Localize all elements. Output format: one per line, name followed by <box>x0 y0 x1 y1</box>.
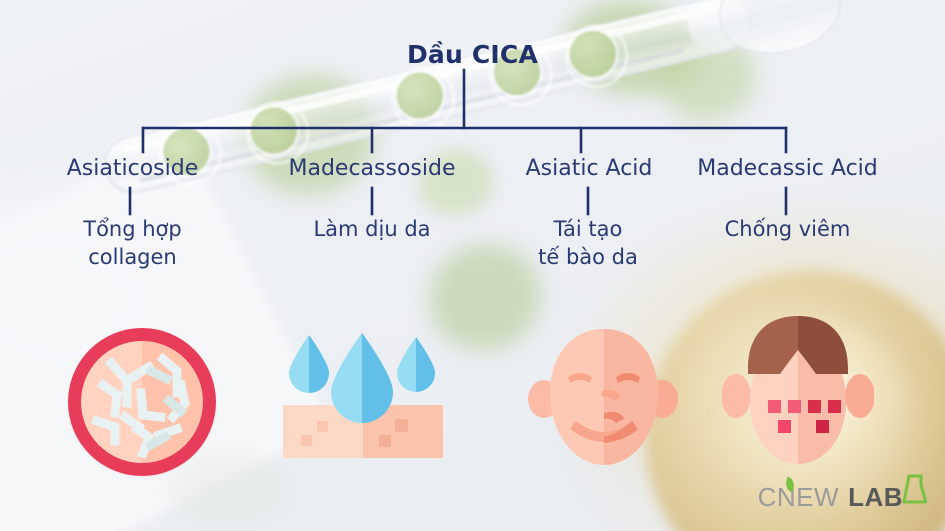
branch-desc-asiaticoside: Tổng hợp collagen <box>35 216 230 271</box>
face-with-wrinkles <box>528 325 680 475</box>
infographic-canvas: Dầu CICA Asiaticoside Madecassoside Asia… <box>0 0 945 531</box>
page-title: Dầu CICA <box>0 40 945 69</box>
branch-label-asiaticoside: Asiaticoside <box>35 156 230 181</box>
face-with-acne-spots <box>722 310 874 476</box>
logo-text-lab: LAB <box>848 482 903 513</box>
desc-line: tế bào da <box>498 244 678 272</box>
branch-label-asiatic-acid: Asiatic Acid <box>499 156 679 181</box>
branch-label-madecassic-acid: Madecassic Acid <box>680 156 895 181</box>
desc-line: Làm dịu da <box>262 216 482 244</box>
desc-line: Tổng hợp <box>35 216 230 244</box>
acne-face-icon <box>722 310 874 476</box>
branch-label-madecassoside: Madecassoside <box>262 156 482 181</box>
brand-logo: C NEW LAB <box>758 474 927 513</box>
smiling-face-icon <box>528 325 680 475</box>
branch-desc-madecassoside: Làm dịu da <box>262 216 482 244</box>
water-drops-and-skin-layer <box>283 333 443 458</box>
branch-desc-madecassic-acid: Chống viêm <box>680 216 895 244</box>
water-drops-skin-icon <box>283 333 443 458</box>
green-flask-icon <box>901 474 927 506</box>
desc-line: Tái tạo <box>498 216 678 244</box>
collagen-fiber-strands <box>81 341 203 463</box>
desc-line: collagen <box>35 244 230 272</box>
desc-line: Chống viêm <box>680 216 895 244</box>
branch-desc-asiatic-acid: Tái tạo tế bào da <box>498 216 678 271</box>
collagen-fibers-icon <box>68 328 216 476</box>
logo-text-c: C <box>758 482 777 513</box>
